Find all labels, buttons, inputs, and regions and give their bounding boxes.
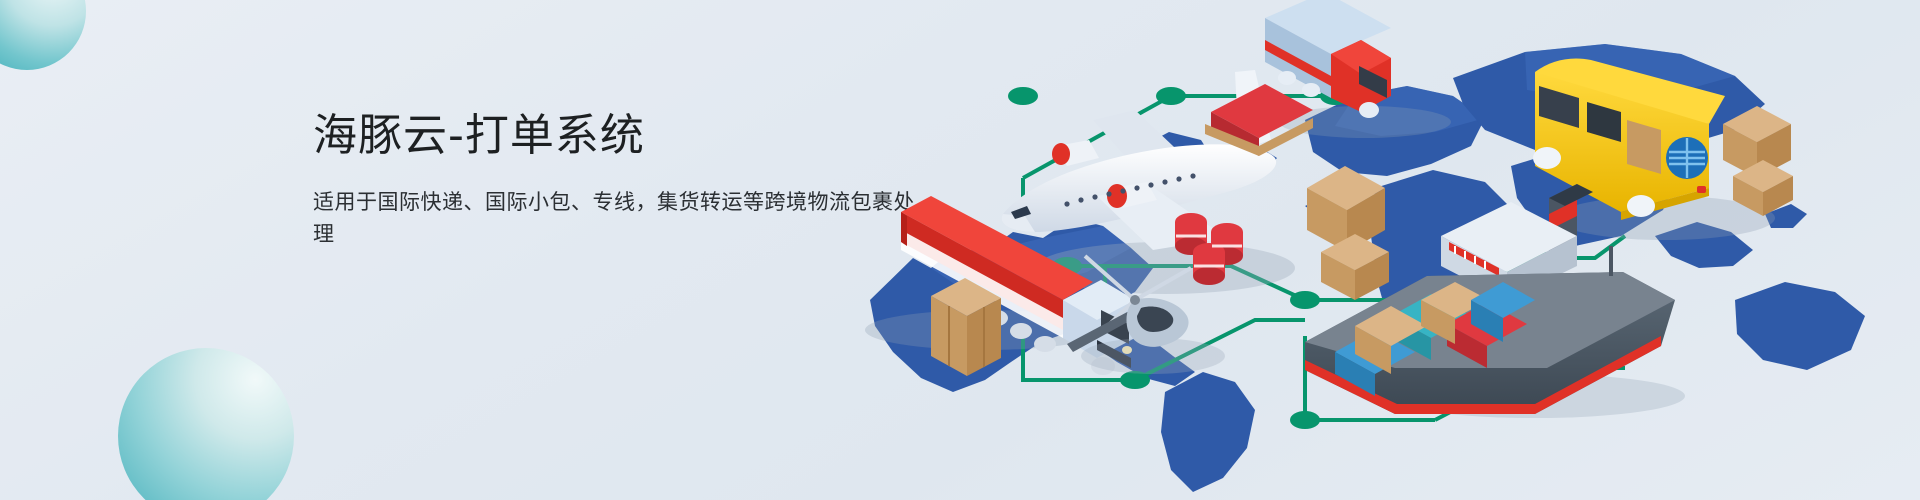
van-cargo-boxes bbox=[1723, 106, 1793, 216]
route-node bbox=[1290, 411, 1320, 429]
airplane-engine-intake-far bbox=[1052, 143, 1070, 165]
decorative-circle-top-left bbox=[0, 0, 86, 70]
landmass-south-america bbox=[1161, 372, 1255, 492]
barrel-bottom bbox=[1193, 267, 1225, 285]
landmass-australia bbox=[1735, 282, 1865, 370]
van-taillight bbox=[1697, 186, 1706, 193]
route-node bbox=[1156, 87, 1186, 105]
truck-boxes bbox=[931, 278, 1001, 376]
route-node bbox=[1008, 87, 1038, 105]
helicopter-rotor-hub bbox=[1130, 295, 1140, 305]
truck-trailer-front bbox=[901, 212, 907, 246]
cardboard-boxes-right bbox=[1307, 166, 1389, 300]
decorative-circle-bottom-left bbox=[118, 348, 294, 500]
route-node bbox=[1290, 291, 1320, 309]
hero-banner: 海豚云-打单系统 适用于国际快递、国际小包、专线，集货转运等跨境物流包裹处理 bbox=[0, 0, 1920, 500]
logistics-illustration bbox=[835, 0, 1920, 500]
